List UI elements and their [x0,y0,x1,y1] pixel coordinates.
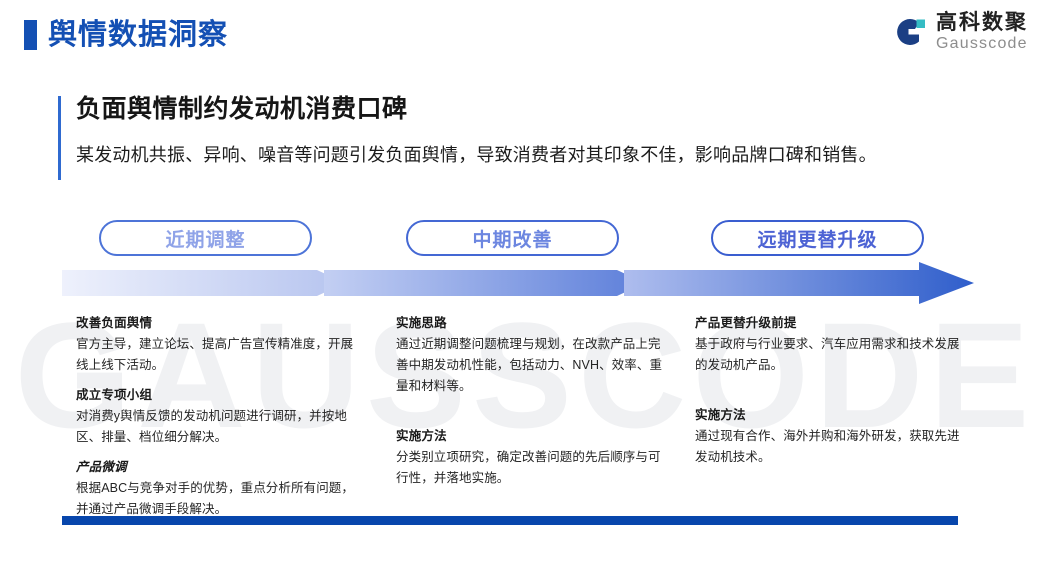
block-title: 实施思路 [396,312,664,334]
block-title: 实施方法 [396,425,664,447]
content-block: 改善负面舆情 官方主导，建立论坛、提高广告宣传精准度，开展线上线下活动。 [76,312,356,376]
header-bullet-icon [24,20,37,50]
block-title: 产品更替升级前提 [695,312,963,334]
block-body: 基于政府与行业要求、汽车应用需求和技术发展的发动机产品。 [695,334,963,376]
content-block: 成立专项小组 对消费y舆情反馈的发动机问题进行调研，并按地区、排量、档位细分解决… [76,384,356,448]
lead-subtitle: 某发动机共振、异响、噪音等问题引发负面舆情，导致消费者对其印象不佳，影响品牌口碑… [76,142,958,168]
block-body: 官方主导，建立论坛、提高广告宣传精准度，开展线上线下活动。 [76,334,356,376]
block-spacer [695,384,963,404]
slide-root: GAUSSCODE 舆情数据洞察 高科数聚 Gausscode 负面舆情制约发动… [0,0,1050,588]
block-spacer [396,405,664,425]
block-body: 通过现有合作、海外并购和海外研发，获取先进发动机技术。 [695,426,963,468]
block-body: 通过近期调整问题梳理与规划，在改款产品上完善中期发动机性能，包括动力、NVH、效… [396,334,664,397]
lead-block: 负面舆情制约发动机消费口碑 某发动机共振、异响、噪音等问题引发负面舆情，导致消费… [58,92,958,168]
footer-rule [62,516,958,525]
stage-pill-near-term[interactable]: 近期调整 [99,220,312,256]
column-mid-term: 实施思路 通过近期调整问题梳理与规划，在改款产品上完善中期发动机性能，包括动力、… [396,312,664,497]
lead-heading: 负面舆情制约发动机消费口碑 [76,92,958,126]
block-title: 产品微调 [76,456,356,478]
block-title: 改善负面舆情 [76,312,356,334]
gausscode-logo-icon [889,13,927,51]
lead-accent-bar [58,96,61,180]
content-block: 产品更替升级前提 基于政府与行业要求、汽车应用需求和技术发展的发动机产品。 [695,312,963,376]
block-body: 对消费y舆情反馈的发动机问题进行调研，并按地区、排量、档位细分解决。 [76,406,356,448]
content-block: 实施方法 分类别立项研究，确定改善问题的先后顺序与可行性，并落地实施。 [396,425,664,489]
logo-name-en: Gausscode [936,36,1028,52]
stage-pill-row: 近期调整 中期改善 远期更替升级 [0,220,1050,260]
column-near-term: 改善负面舆情 官方主导，建立论坛、提高广告宣传精准度，开展线上线下活动。 成立专… [76,312,356,528]
stage-pill-long-term[interactable]: 远期更替升级 [711,220,924,256]
logo-name-cn: 高科数聚 [936,12,1028,33]
content-block: 实施思路 通过近期调整问题梳理与规划，在改款产品上完善中期发动机性能，包括动力、… [396,312,664,397]
block-title: 实施方法 [695,404,963,426]
block-body: 分类别立项研究，确定改善问题的先后顺序与可行性，并落地实施。 [396,447,664,489]
brand-logo: 高科数聚 Gausscode [889,12,1028,52]
content-block: 实施方法 通过现有合作、海外并购和海外研发，获取先进发动机技术。 [695,404,963,468]
stage-pill-mid-term[interactable]: 中期改善 [406,220,619,256]
column-long-term: 产品更替升级前提 基于政府与行业要求、汽车应用需求和技术发展的发动机产品。 实施… [695,312,963,476]
content-block: 产品微调 根据ABC与竞争对手的优势，重点分析所有问题，并通过产品微调手段解决。 [76,456,356,520]
block-body: 根据ABC与竞争对手的优势，重点分析所有问题，并通过产品微调手段解决。 [76,478,356,520]
timeline-arrow [62,262,974,304]
slide-header: 舆情数据洞察 高科数聚 Gausscode [0,0,1050,72]
block-title: 成立专项小组 [76,384,356,406]
page-title: 舆情数据洞察 [48,16,228,54]
